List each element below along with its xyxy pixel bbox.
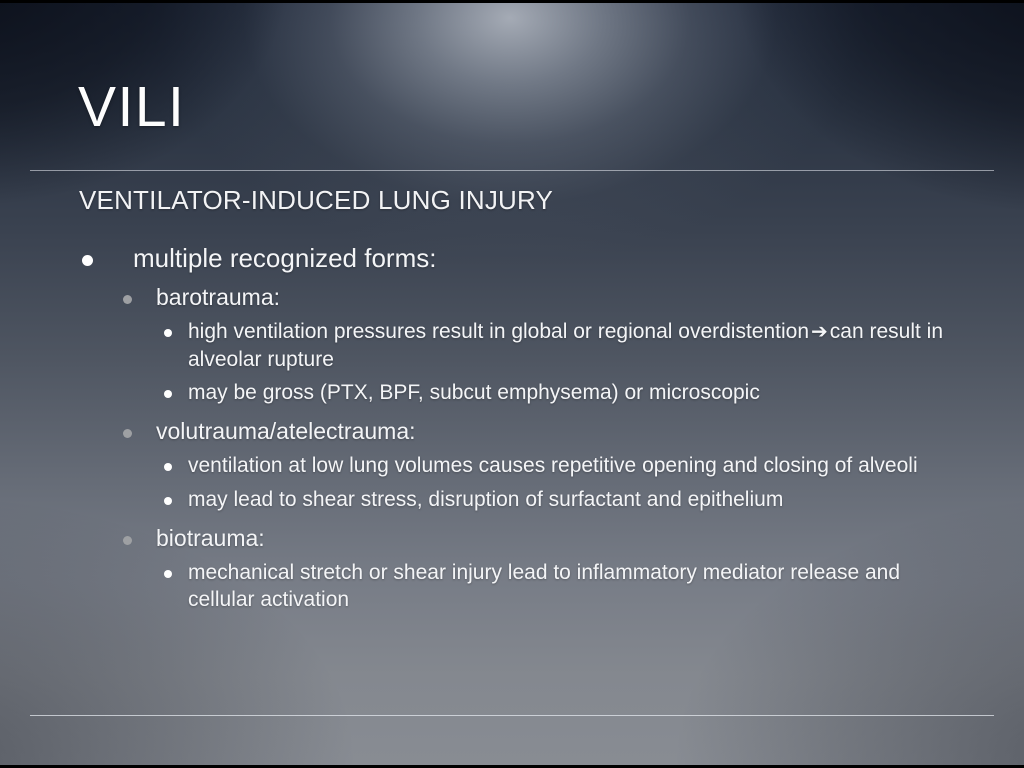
- bullet-dot-icon: [164, 329, 172, 337]
- bullet-dot-icon: [164, 463, 172, 471]
- detail-text-before-arrow: high ventilation pressures result in glo…: [188, 320, 809, 343]
- bullet-dot-icon: [164, 497, 172, 505]
- bullet-level2-volutrauma: volutrauma/atelectrauma:: [0, 418, 1024, 445]
- title-divider-rule: [30, 170, 994, 171]
- bullet-level3-label: may be gross (PTX, BPF, subcut emphysema…: [188, 379, 964, 407]
- slide-body-outline: multiple recognized forms: barotrauma: h…: [0, 243, 1024, 620]
- slide-subtitle: VENTILATOR-INDUCED LUNG INJURY: [79, 185, 553, 216]
- bullet-level2-barotrauma: barotrauma:: [0, 284, 1024, 311]
- right-arrow-icon: ➔: [809, 319, 830, 343]
- bullet-level3-label: may lead to shear stress, disruption of …: [188, 486, 964, 514]
- bullet-level2-label: volutrauma/atelectrauma:: [156, 418, 1024, 445]
- bullet-level3-label: ventilation at low lung volumes causes r…: [188, 452, 964, 480]
- footer-divider-rule: [30, 715, 994, 716]
- bullet-level3-detail: may be gross (PTX, BPF, subcut emphysema…: [0, 379, 1024, 407]
- slide-content: VILI VENTILATOR-INDUCED LUNG INJURY mult…: [0, 0, 1024, 768]
- bullet-level1-label: multiple recognized forms:: [133, 243, 1024, 274]
- bullet-level3-label: mechanical stretch or shear injury lead …: [188, 559, 964, 614]
- bullet-level3-detail: may lead to shear stress, disruption of …: [0, 486, 1024, 514]
- slide-title: VILI: [78, 76, 185, 139]
- bullet-dot-icon: [123, 295, 132, 304]
- bullet-level3-detail: ventilation at low lung volumes causes r…: [0, 452, 1024, 480]
- bullet-dot-icon: [164, 570, 172, 578]
- bullet-level3-detail: mechanical stretch or shear injury lead …: [0, 559, 1024, 614]
- bullet-level1-lead: multiple recognized forms:: [0, 243, 1024, 274]
- bullet-dot-icon: [123, 429, 132, 438]
- bullet-level3-detail: high ventilation pressures result in glo…: [0, 318, 1024, 373]
- bullet-level2-label: barotrauma:: [156, 284, 1024, 311]
- bullet-level2-biotrauma: biotrauma:: [0, 525, 1024, 552]
- bullet-level3-label: high ventilation pressures result in glo…: [188, 318, 964, 373]
- bullet-level2-label: biotrauma:: [156, 525, 1024, 552]
- bullet-dot-icon: [123, 536, 132, 545]
- bullet-dot-icon: [164, 390, 172, 398]
- bullet-dot-icon: [82, 255, 93, 266]
- presentation-slide: VILI VENTILATOR-INDUCED LUNG INJURY mult…: [0, 0, 1024, 768]
